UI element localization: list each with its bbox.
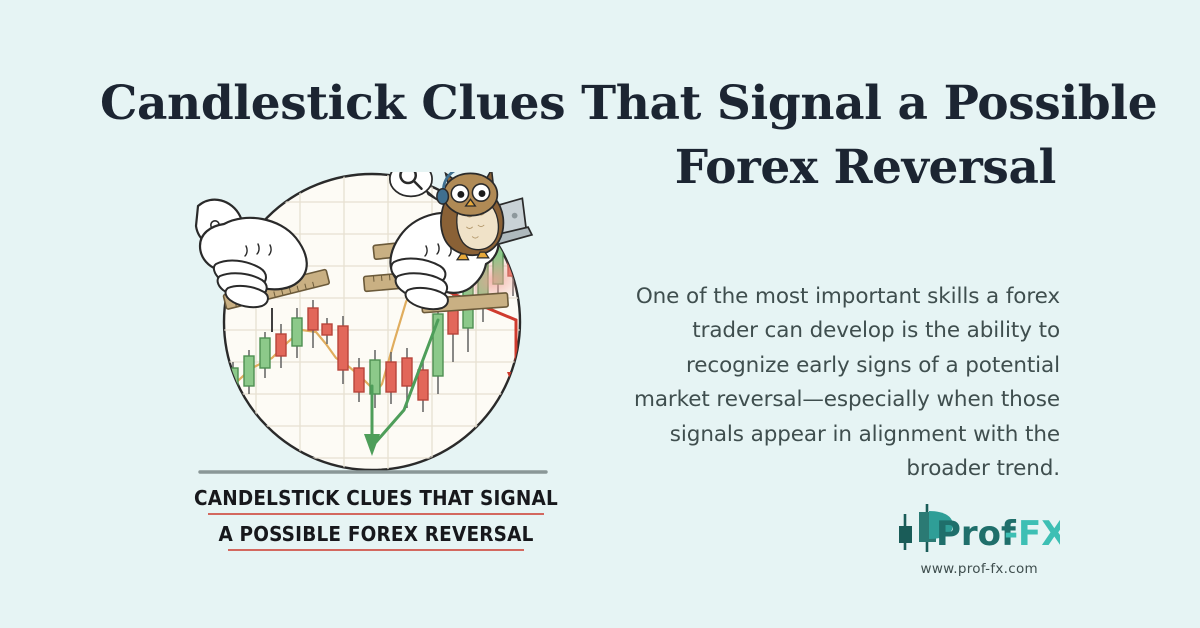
title-line-1: Candlestick Clues That Signal a Possible — [100, 72, 1056, 136]
logo-candlestick-left — [899, 514, 912, 550]
prof-fx-logo-mark: Prof - FX — [896, 500, 1060, 556]
brand-logo[interactable]: Prof - FX www.prof-fx.com — [760, 500, 1060, 577]
poster-canvas: Candlestick Clues That Signal a Possible… — [0, 0, 1200, 628]
red-arrow-head-down — [507, 372, 525, 394]
body-paragraph: One of the most important skills a forex… — [608, 280, 1060, 487]
caption-line-2: A POSSIBLE FOREX REVERSAL — [218, 522, 533, 546]
logo-text-light: FX — [1018, 514, 1060, 554]
caption-line-1: CANDELSTICK CLUES THAT SIGNAL — [194, 486, 558, 510]
illustration-caption: CANDELSTICK CLUES THAT SIGNAL A POSSIBLE… — [176, 484, 576, 560]
logo-url[interactable]: www.prof-fx.com — [760, 561, 1060, 577]
logo-text-sep: - — [1004, 514, 1018, 554]
